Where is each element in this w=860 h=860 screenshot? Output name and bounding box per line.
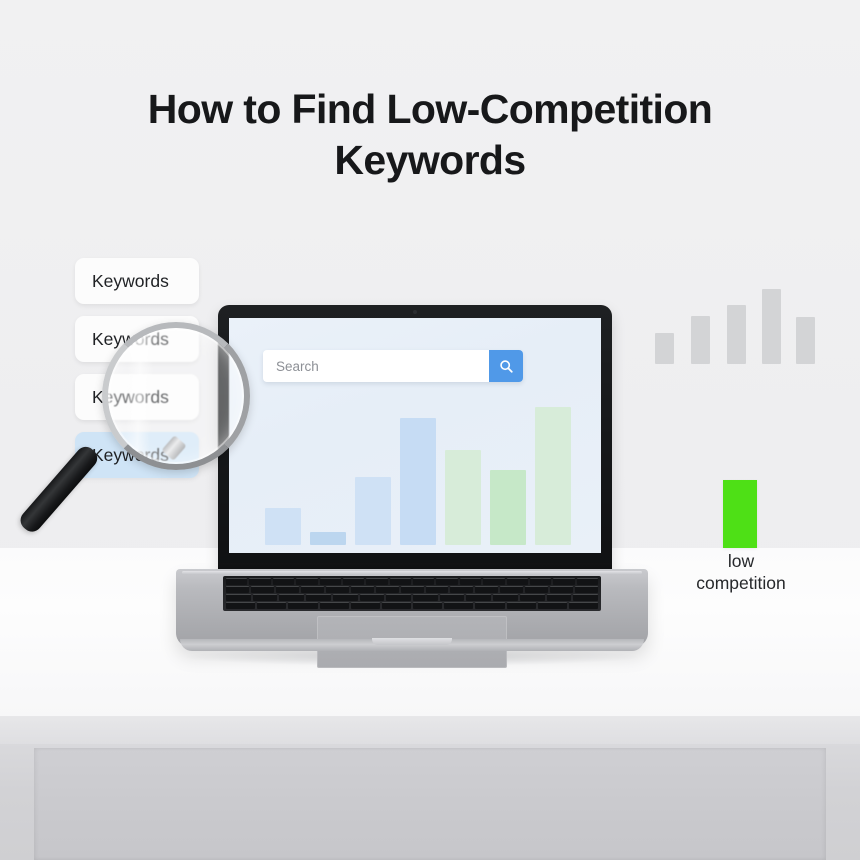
screen-bar [355,477,391,545]
screen-bar [310,532,346,545]
magnifier-lens-inner-edge [108,328,244,464]
laptop-open-notch [372,638,452,645]
magnifying-glass-icon [76,322,306,542]
laptop-keyboard[interactable] [223,576,601,611]
page-title-line-1: How to Find Low-Competition [148,86,713,132]
desk-front-inset [34,748,826,860]
low-competition-label-line-1: low [660,550,822,572]
keyword-card-label: Keywords [75,271,169,292]
low-competition-bar [723,480,757,548]
background-bar [762,289,781,364]
background-bar [691,316,710,364]
background-bar [655,333,674,364]
page-title-line-2: Keywords [0,135,860,186]
desk-edge [0,716,860,746]
search-button[interactable] [489,350,523,382]
screen-bar [445,450,481,545]
magnifier-lens [102,322,250,470]
low-competition-label: low competition [660,550,822,594]
background-bar [796,317,815,364]
screen-bar [535,407,571,545]
screen-bar [490,470,526,545]
page-title: How to Find Low-Competition Keywords [0,84,860,186]
screen-bar-chart [257,395,587,545]
poster-scene: How to Find Low-Competition Keywords low… [0,0,860,860]
laptop-base-top-edge [182,571,642,574]
webcam-icon [413,310,417,314]
search-icon [499,359,514,374]
background-bar [727,305,746,364]
background-bar-chart [655,286,815,364]
magnifier-handle [16,443,101,536]
keyword-card[interactable]: Keywords [75,258,199,304]
screen-bar [400,418,436,545]
low-competition-label-line-2: competition [660,572,822,594]
